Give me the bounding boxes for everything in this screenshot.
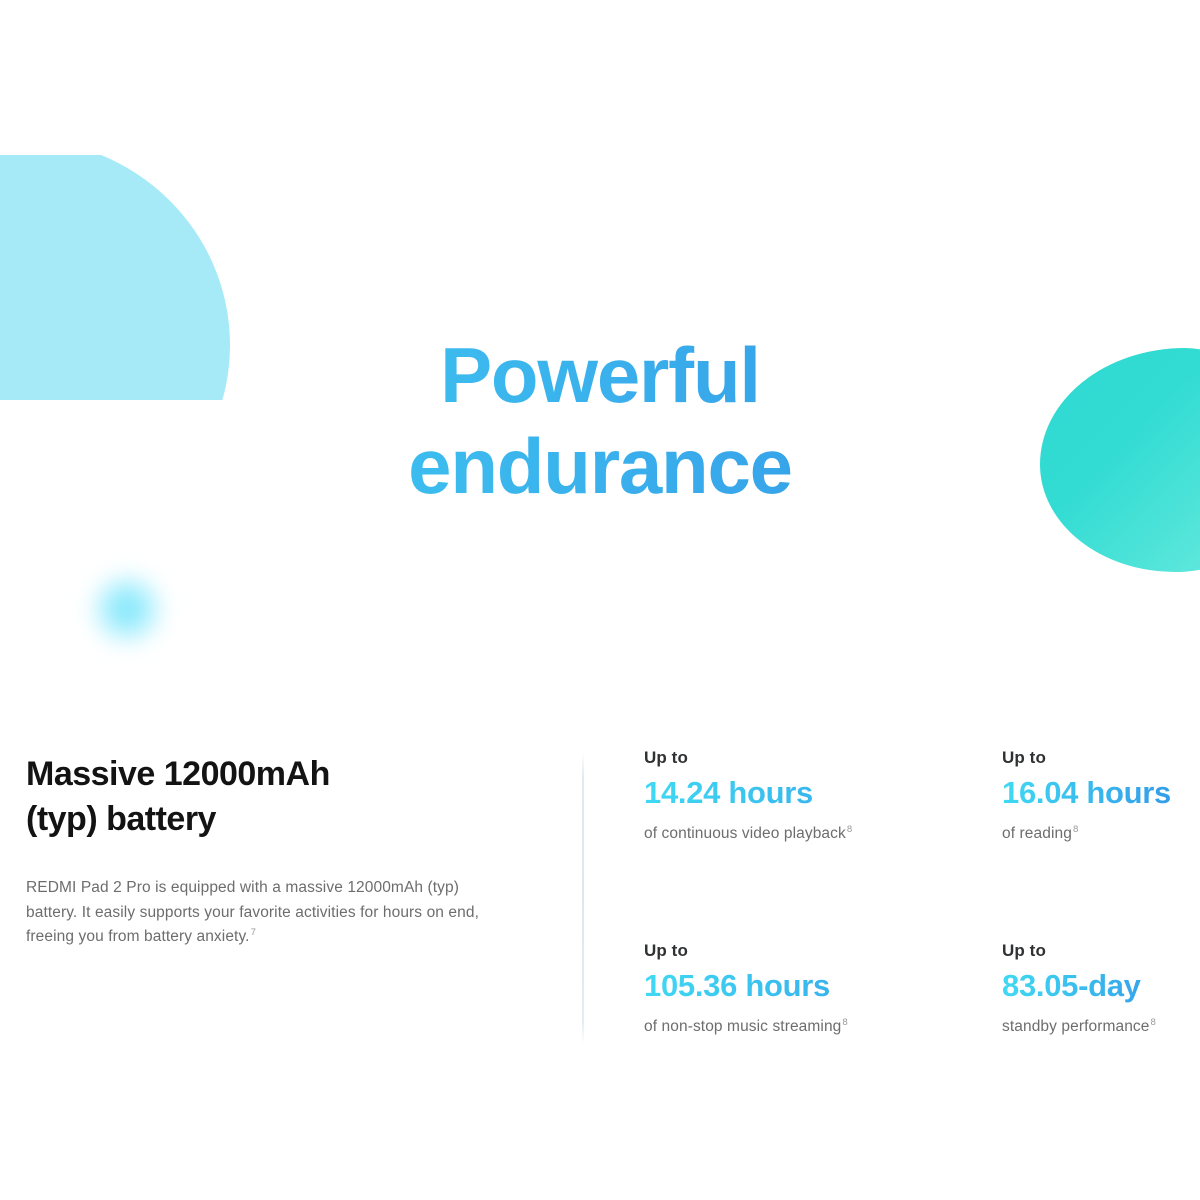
stat-description: of continuous video playback8 bbox=[644, 824, 1002, 844]
stat-value: 83.05-day bbox=[1002, 968, 1200, 1004]
stat-footnote-marker: 8 bbox=[847, 824, 852, 835]
stat-value: 16.04 hours bbox=[1002, 775, 1200, 811]
feature-section: Massive 12000mAh (typ) battery REDMI Pad… bbox=[0, 748, 1200, 1048]
vertical-divider bbox=[582, 752, 584, 1044]
feature-description: REDMI Pad 2 Pro is equipped with a massi… bbox=[26, 876, 496, 949]
promo-page: Powerful endurance Massive 12000mAh (typ… bbox=[0, 0, 1200, 1200]
stat-label: Up to bbox=[644, 748, 1002, 768]
stat-card-standby: Up to 83.05-day standby performance8 bbox=[1002, 941, 1200, 1038]
stat-card-reading: Up to 16.04 hours of reading8 bbox=[1002, 748, 1200, 845]
stat-description: of non-stop music streaming8 bbox=[644, 1017, 1002, 1037]
stat-label: Up to bbox=[1002, 941, 1200, 961]
stat-value: 14.24 hours bbox=[644, 775, 1002, 811]
stat-label: Up to bbox=[1002, 748, 1200, 768]
feature-title: Massive 12000mAh (typ) battery bbox=[26, 752, 496, 842]
stat-description-text: of non-stop music streaming bbox=[644, 1018, 841, 1035]
stat-footnote-marker: 8 bbox=[1073, 824, 1078, 835]
stat-label: Up to bbox=[644, 941, 1002, 961]
stat-description-text: standby performance bbox=[1002, 1018, 1150, 1035]
stat-card-music-streaming: Up to 105.36 hours of non-stop music str… bbox=[644, 941, 1002, 1038]
stat-footnote-marker: 8 bbox=[842, 1017, 847, 1028]
cyan-glow-dot bbox=[88, 570, 166, 648]
feature-footnote-marker: 7 bbox=[251, 927, 256, 938]
stat-description: standby performance8 bbox=[1002, 1017, 1200, 1037]
page-title: Powerful endurance bbox=[0, 330, 1200, 513]
stat-footnote-marker: 8 bbox=[1151, 1017, 1156, 1028]
stat-card-video-playback: Up to 14.24 hours of continuous video pl… bbox=[644, 748, 1002, 845]
stat-description-text: of continuous video playback bbox=[644, 826, 846, 843]
stat-description-text: of reading bbox=[1002, 826, 1072, 843]
battery-stats-grid: Up to 14.24 hours of continuous video pl… bbox=[644, 748, 1200, 1037]
stat-description: of reading8 bbox=[1002, 824, 1200, 844]
feature-text-block: Massive 12000mAh (typ) battery REDMI Pad… bbox=[26, 752, 496, 949]
stat-value: 105.36 hours bbox=[644, 968, 1002, 1004]
